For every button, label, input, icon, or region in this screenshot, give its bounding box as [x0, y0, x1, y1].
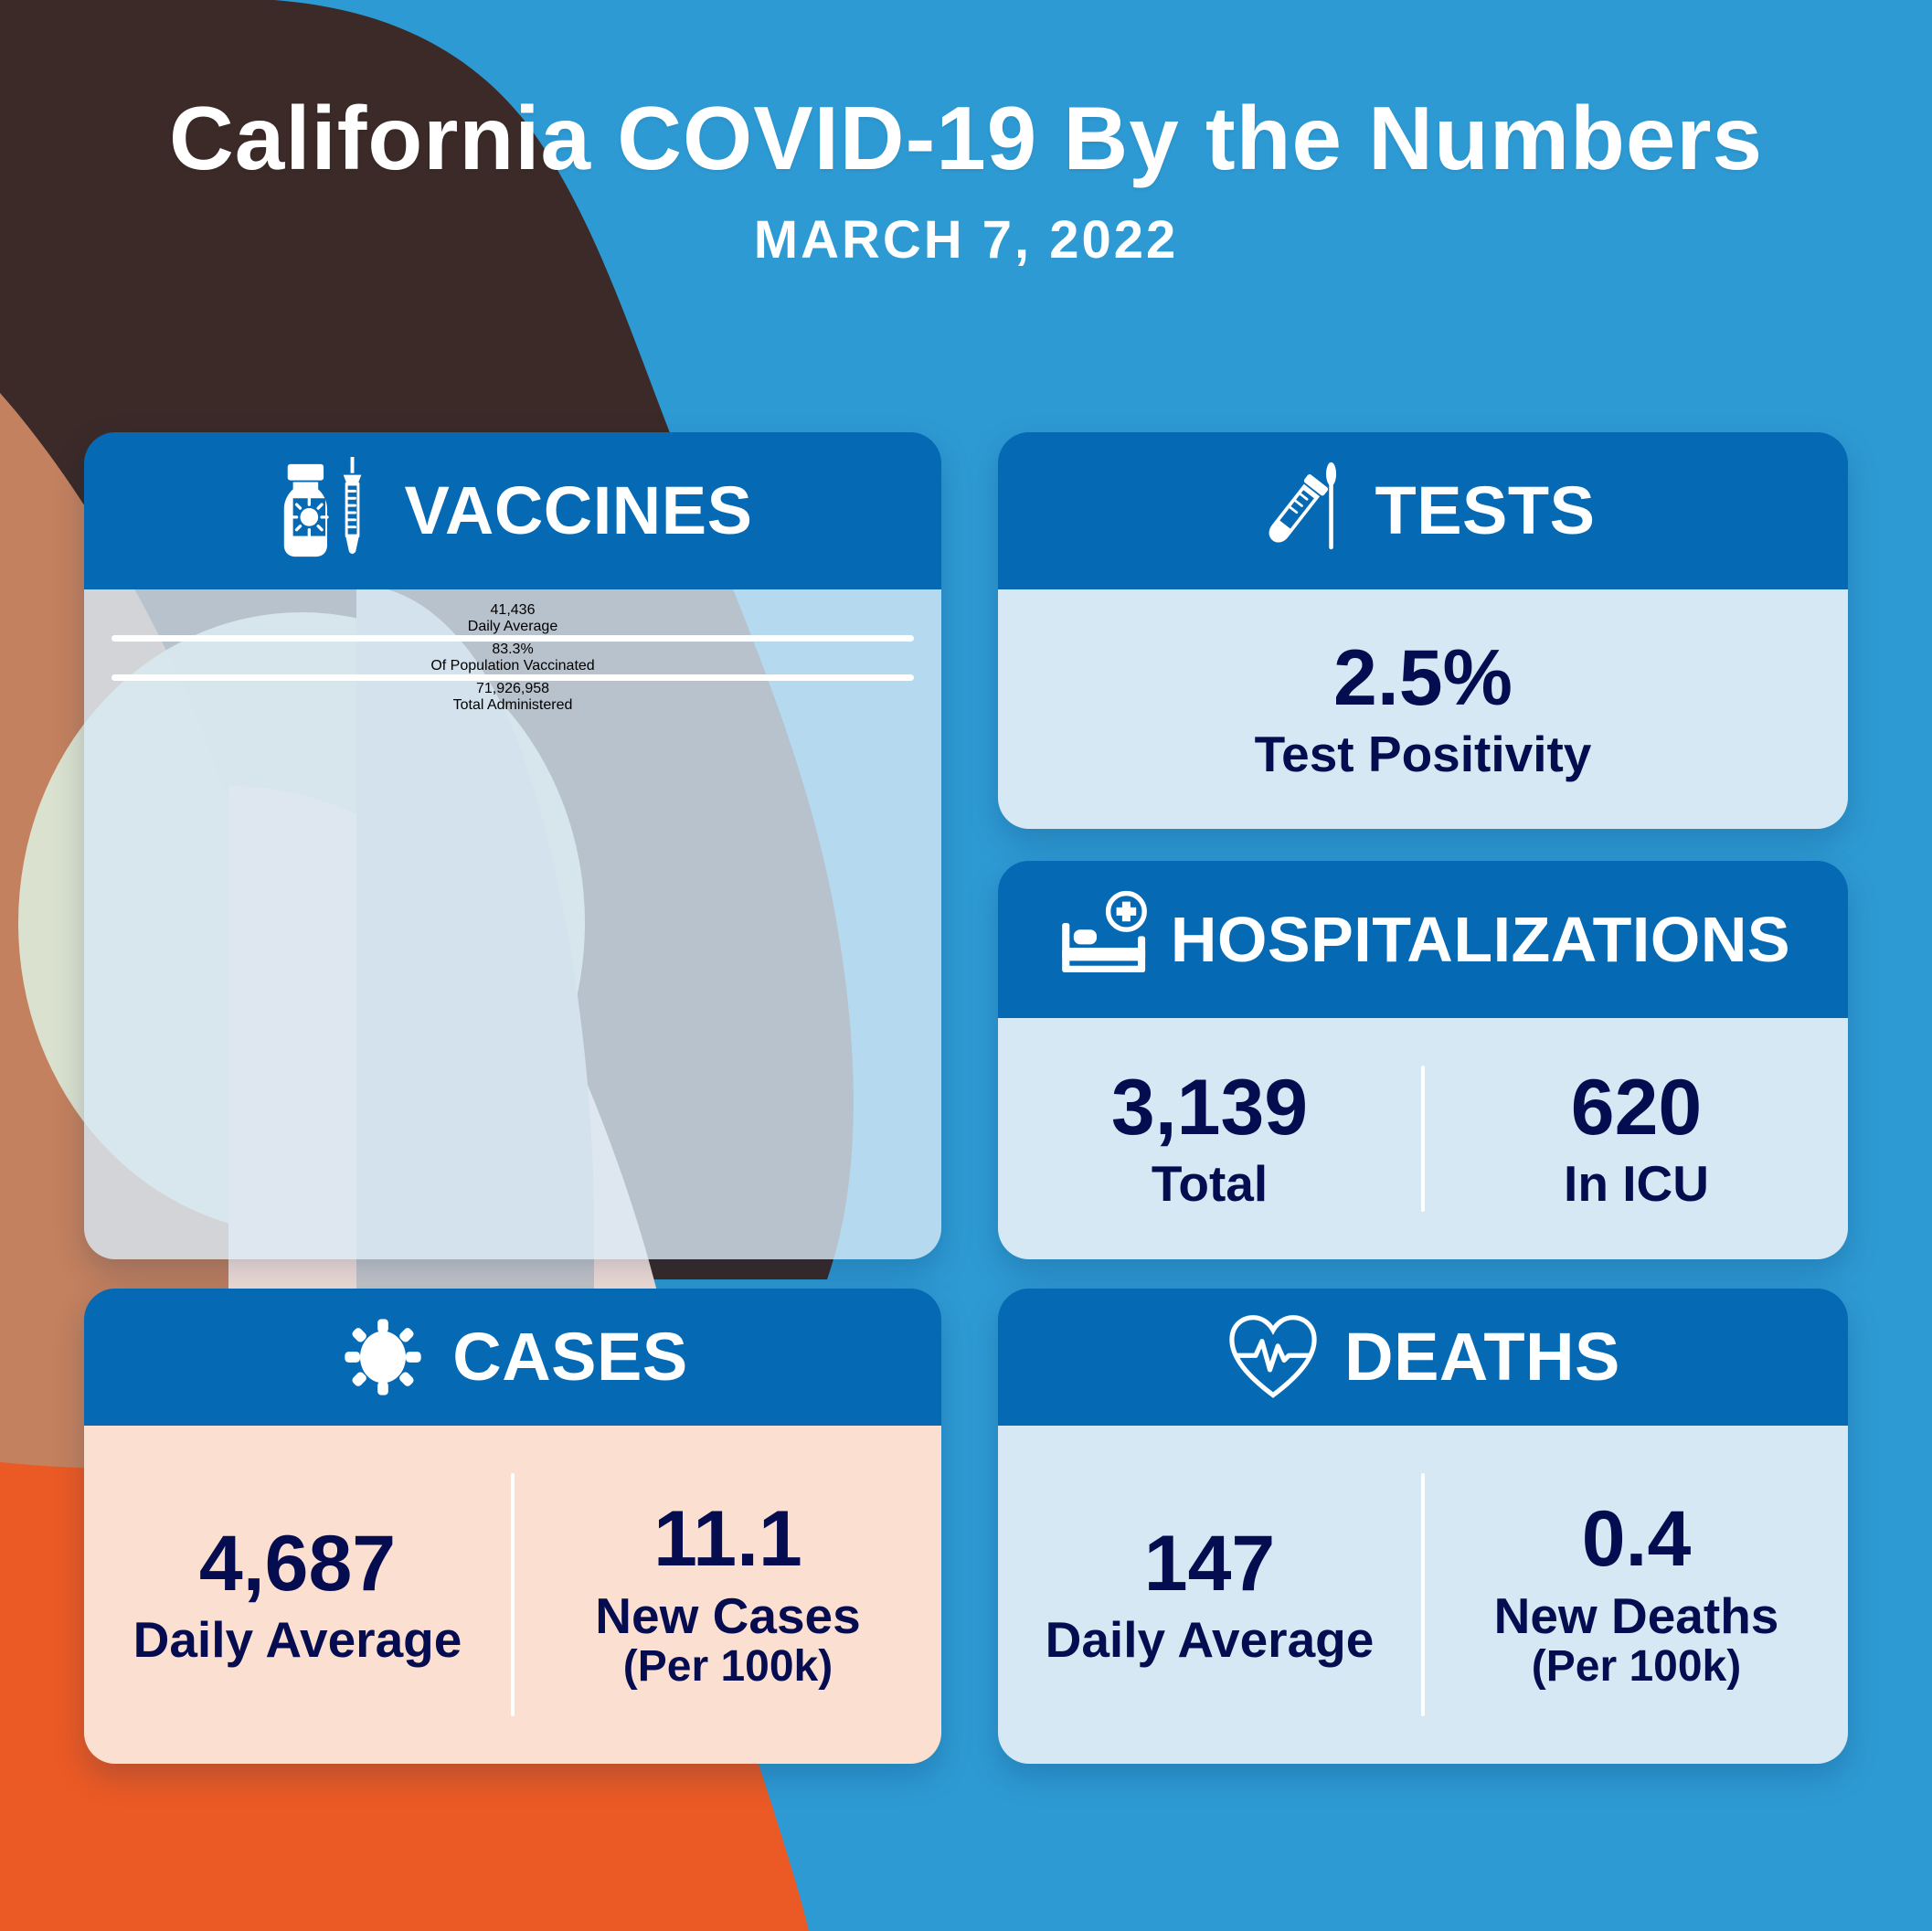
- stat-deaths-new-per-100k: 0.4 New Deaths (Per 100k): [1425, 1426, 1848, 1764]
- stat-value: 147: [1144, 1523, 1276, 1605]
- stat-cases-new-per-100k: 11.1 New Cases (Per 100k): [515, 1426, 941, 1764]
- heart-pulse-icon: [1226, 1310, 1321, 1405]
- test-tube-swab-icon: [1251, 461, 1352, 561]
- stat-value: 620: [1571, 1066, 1703, 1149]
- stat-vaccines-population-vaccinated: 83.3% Of Population Vaccinated: [84, 642, 941, 674]
- card-cases-title: CASES: [452, 1323, 687, 1391]
- stat-value: 3,139: [1111, 1066, 1308, 1149]
- card-deaths-header: DEATHS: [998, 1289, 1848, 1426]
- stat-label: Daily Average: [468, 619, 557, 635]
- page-title: California COVID-19 By the Numbers: [0, 91, 1932, 186]
- coronavirus-icon: [337, 1311, 429, 1403]
- stat-vaccines-total-administered: 71,926,958 Total Administered: [84, 681, 941, 714]
- card-hospitalizations-body: 3,139 Total 620 In ICU: [998, 1018, 1848, 1259]
- card-hospitalizations-header: HOSPITALIZATIONS: [998, 861, 1848, 1018]
- stat-label: Of Population Vaccinated: [430, 658, 594, 674]
- stat-sublabel: (Per 100k): [623, 1643, 833, 1692]
- hospital-bed-icon: [1056, 890, 1154, 989]
- stat-hospitalizations-icu: 620 In ICU: [1425, 1018, 1848, 1259]
- page-date: MARCH 7, 2022: [0, 209, 1932, 271]
- stat-value: 4,687: [199, 1523, 396, 1605]
- header: California COVID-19 By the Numbers MARCH…: [0, 0, 1932, 271]
- card-vaccines-body: 41,436 Daily Average 83.3% Of Population…: [84, 589, 941, 1259]
- stat-label: Total Administered: [453, 697, 573, 714]
- infographic-canvas: California COVID-19 By the Numbers MARCH…: [0, 0, 1932, 1931]
- stat-label: Daily Average: [133, 1612, 462, 1668]
- stat-label: Daily Average: [1046, 1612, 1375, 1668]
- stat-value: 0.4: [1582, 1498, 1692, 1580]
- card-cases-header: CASES: [84, 1289, 941, 1426]
- card-tests-title: TESTS: [1375, 477, 1596, 545]
- divider-horizontal: [111, 635, 914, 642]
- stat-value: 83.3%: [492, 642, 533, 658]
- card-vaccines-title: VACCINES: [405, 477, 753, 545]
- stat-vaccines-daily-average: 41,436 Daily Average: [84, 602, 941, 635]
- stat-value: 41,436: [491, 602, 536, 619]
- divider-horizontal: [111, 674, 914, 681]
- stat-deaths-daily-average: 147 Daily Average: [998, 1426, 1421, 1764]
- card-deaths: DEATHS 147 Daily Average 0.4 New Deaths …: [998, 1289, 1848, 1764]
- card-hospitalizations-title: HOSPITALIZATIONS: [1171, 907, 1790, 971]
- stat-value: 11.1: [653, 1498, 802, 1580]
- card-cases: CASES 4,687 Daily Average 11.1 New Cases…: [84, 1289, 941, 1764]
- stat-value: 71,926,958: [476, 681, 549, 697]
- stat-label: New Deaths: [1494, 1588, 1779, 1644]
- stat-cases-daily-average: 4,687 Daily Average: [84, 1426, 511, 1764]
- card-vaccines-header: VACCINES: [84, 432, 941, 589]
- vaccine-vial-syringe-icon: [273, 457, 381, 565]
- stat-label: Test Positivity: [1255, 727, 1592, 782]
- stat-label: In ICU: [1564, 1156, 1709, 1212]
- stat-label: Total: [1152, 1156, 1268, 1212]
- card-cases-body: 4,687 Daily Average 11.1 New Cases (Per …: [84, 1426, 941, 1764]
- stat-tests-positivity: 2.5% Test Positivity: [998, 589, 1848, 829]
- stat-hospitalizations-total: 3,139 Total: [998, 1018, 1421, 1259]
- stat-label: New Cases: [595, 1588, 860, 1644]
- stat-sublabel: (Per 100k): [1532, 1643, 1741, 1692]
- card-tests-header: TESTS: [998, 432, 1848, 589]
- card-deaths-title: DEATHS: [1344, 1323, 1620, 1391]
- stat-value: 2.5%: [1333, 637, 1513, 719]
- card-vaccines: VACCINES 41,436 Daily Average 83.3% Of P…: [84, 432, 941, 1259]
- card-deaths-body: 147 Daily Average 0.4 New Deaths (Per 10…: [998, 1426, 1848, 1764]
- card-hospitalizations: HOSPITALIZATIONS 3,139 Total 620 In ICU: [998, 861, 1848, 1259]
- card-tests-body: 2.5% Test Positivity: [998, 589, 1848, 829]
- card-tests: TESTS 2.5% Test Positivity: [998, 432, 1848, 829]
